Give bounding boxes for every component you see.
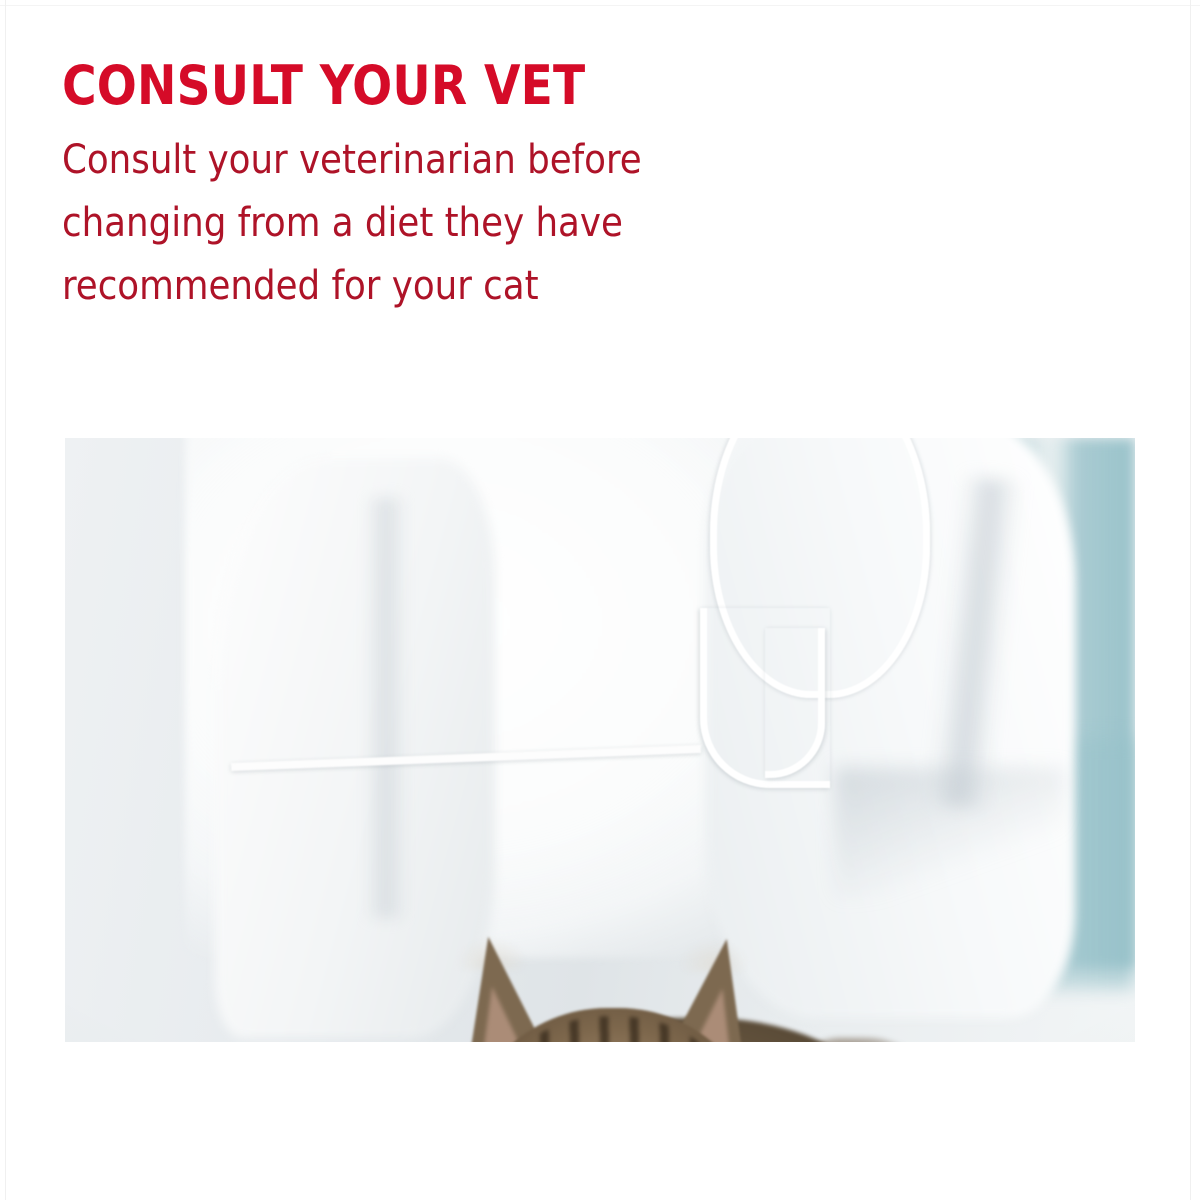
right-hairline	[1190, 0, 1191, 1200]
left-hairline	[5, 0, 6, 1200]
top-hairline	[0, 5, 1200, 6]
brand-footer	[0, 1110, 1200, 1168]
body-text: Consult your veterinarian before changin…	[62, 129, 785, 318]
promo-card: CONSULT YOUR VET Consult your veterinari…	[0, 0, 1200, 1200]
hero-photo	[65, 438, 1135, 1042]
text-block: CONSULT YOUR VET Consult your veterinari…	[62, 56, 822, 318]
page-title: CONSULT YOUR VET	[62, 56, 799, 116]
photo-vignette	[65, 438, 1135, 1042]
